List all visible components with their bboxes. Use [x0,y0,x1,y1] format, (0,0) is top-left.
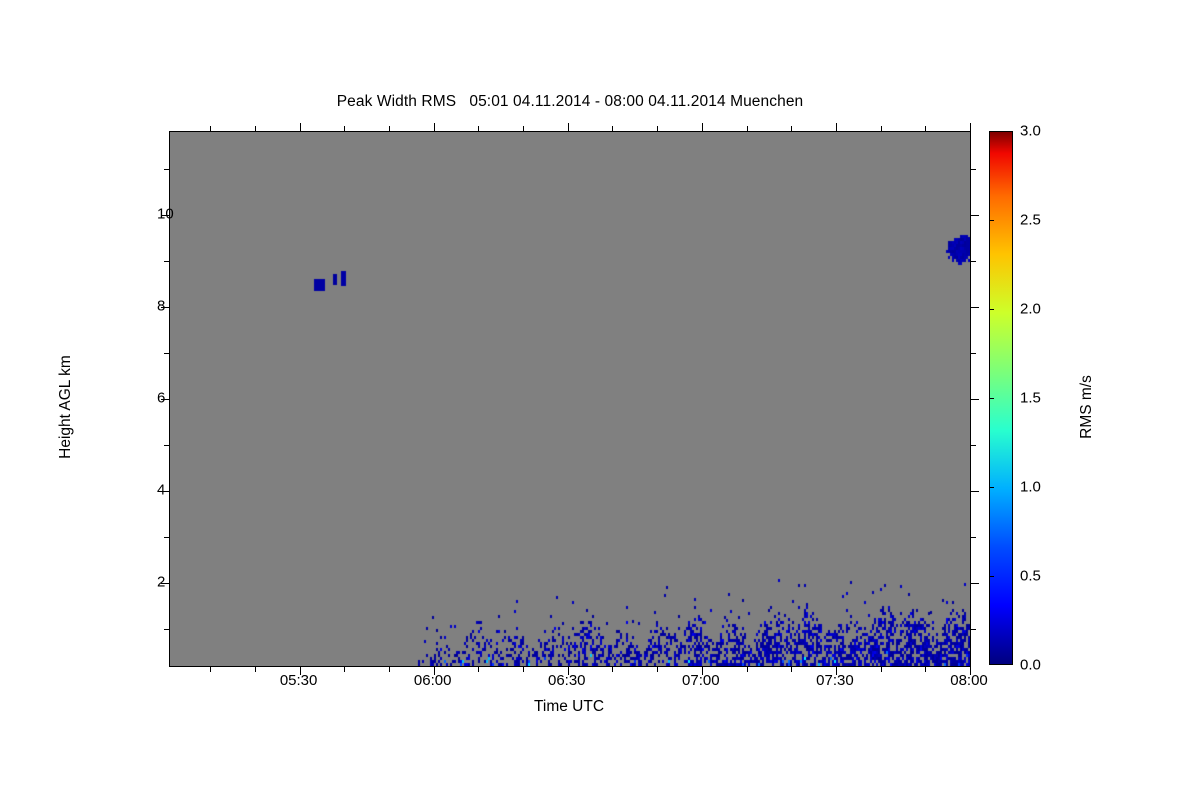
x-tick-label: 06:30 [548,672,586,689]
x-tick-label: 07:00 [682,672,720,689]
chart-title: Peak Width RMS 05:01 04.11.2014 - 08:00 … [0,93,1140,111]
colorbar-tick [990,487,994,488]
x-axis-tick [702,123,703,132]
colorbar[interactable] [989,131,1013,665]
y-tick-label: 6 [157,390,165,407]
colorbar-tick [990,664,994,665]
x-axis-tick [836,123,837,132]
y-axis-tick [970,583,979,584]
x-tick-label: 06:00 [414,672,452,689]
y-axis-tick [164,537,170,538]
colorbar-tick [990,309,994,310]
x-axis-tick [568,123,569,132]
y-axis-tick [970,537,976,538]
y-axis-tick [164,169,170,170]
x-axis-tick [925,126,926,132]
colorbar-tick [990,398,994,399]
y-axis-tick [970,445,976,446]
y-axis-tick [164,445,170,446]
x-tick-label: 05:30 [280,672,318,689]
y-axis-title: Height AGL km [57,287,75,527]
x-axis-tick [925,666,926,672]
x-axis-tick [747,666,748,672]
y-axis-tick [970,307,979,308]
colorbar-title: RMS m/s [1078,307,1096,507]
x-axis-tick [389,666,390,672]
x-tick-label: 08:00 [950,672,988,689]
y-axis-tick [970,261,976,262]
y-tick-label: 2 [157,574,165,591]
x-axis-tick [657,126,658,132]
y-axis-tick [970,353,976,354]
x-tick-label: 07:30 [816,672,854,689]
heatmap-raster [170,132,970,666]
y-axis-tick [970,215,979,216]
plot-area[interactable] [169,131,971,667]
colorbar-tick-label: 0.5 [1020,568,1041,585]
colorbar-tick [990,576,994,577]
colorbar-tick [990,131,994,132]
x-axis-tick [791,126,792,132]
x-axis-tick [434,123,435,132]
y-axis-tick [164,629,170,630]
x-axis-tick [255,126,256,132]
x-axis-tick [612,666,613,672]
colorbar-tick-label: 1.5 [1020,390,1041,407]
x-axis-title: Time UTC [169,698,969,716]
y-axis-tick [164,261,170,262]
x-axis-tick [970,123,971,132]
colorbar-tick-label: 3.0 [1020,123,1041,140]
x-axis-tick [523,126,524,132]
x-axis-tick [344,666,345,672]
colorbar-tick-label: 0.0 [1020,657,1041,674]
x-axis-tick [791,666,792,672]
x-axis-tick [389,126,390,132]
colorbar-tick-label: 2.0 [1020,301,1041,318]
x-axis-tick [881,126,882,132]
y-axis-tick [970,169,976,170]
x-axis-tick [478,126,479,132]
x-axis-tick [523,666,524,672]
y-axis-tick [970,629,976,630]
figure-canvas: Peak Width RMS 05:01 04.11.2014 - 08:00 … [0,0,1200,800]
y-tick-label: 10 [157,205,174,222]
y-axis-tick [970,491,979,492]
x-axis-tick [210,666,211,672]
x-axis-tick [657,666,658,672]
x-axis-tick [210,126,211,132]
x-axis-tick [747,126,748,132]
colorbar-tick [990,220,994,221]
x-axis-tick [344,126,345,132]
x-axis-tick [881,666,882,672]
y-tick-label: 8 [157,297,165,314]
y-tick-label: 4 [157,482,165,499]
x-axis-tick [478,666,479,672]
y-axis-tick [970,399,979,400]
colorbar-tick-label: 1.0 [1020,479,1041,496]
x-axis-tick [255,666,256,672]
x-axis-tick [300,123,301,132]
y-axis-tick [164,353,170,354]
colorbar-tick-label: 2.5 [1020,212,1041,229]
x-axis-tick [612,126,613,132]
